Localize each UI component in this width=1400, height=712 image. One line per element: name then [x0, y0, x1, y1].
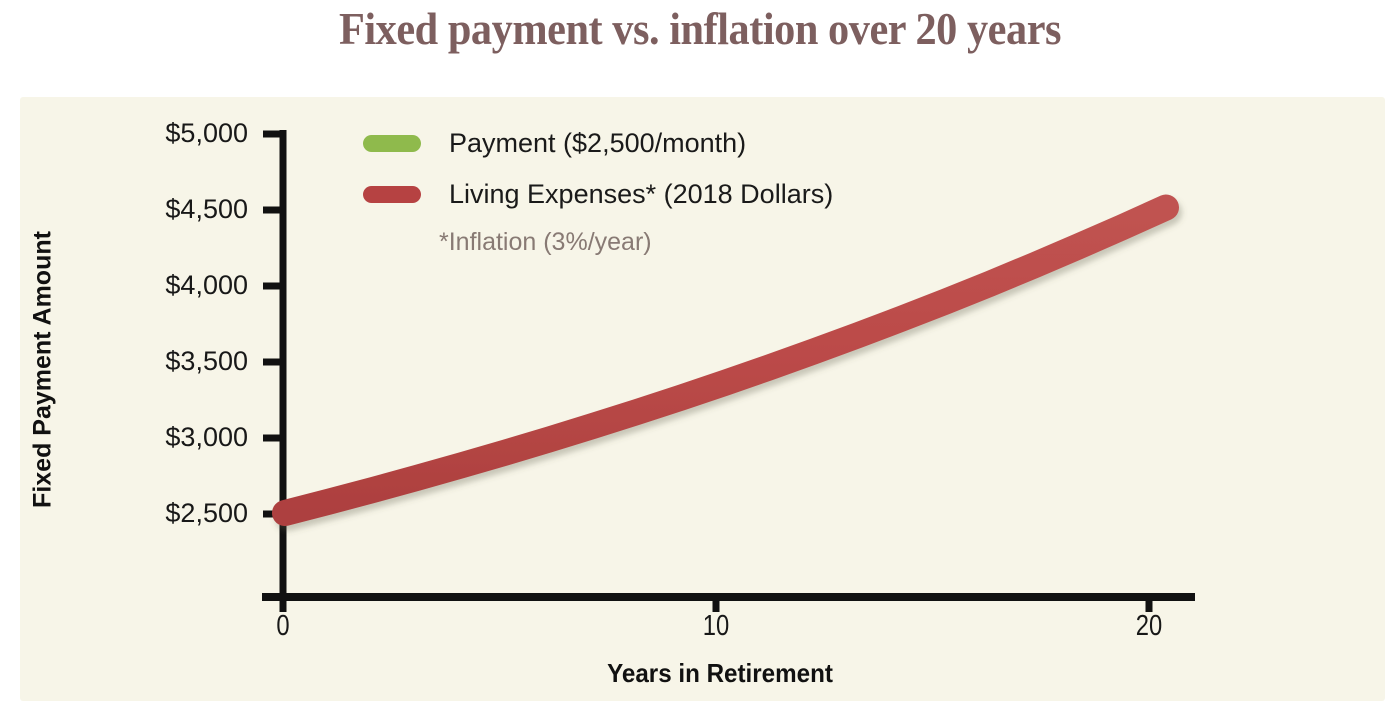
x-tick-20: 20 — [1100, 610, 1198, 643]
x-axis-tick-labels: 0 10 20 — [0, 0, 1400, 712]
legend-item-expenses[interactable]: Living Expenses* (2018 Dollars) — [363, 169, 983, 220]
chart-legend: Payment ($2,500/month) Living Expenses* … — [363, 118, 983, 257]
expenses-swatch-icon — [363, 186, 421, 203]
x-tick-10: 10 — [667, 610, 765, 643]
legend-footnote: *Inflation (3%/year) — [439, 228, 983, 257]
legend-label-payment: Payment ($2,500/month) — [449, 128, 746, 159]
payment-swatch-icon — [363, 135, 421, 152]
legend-label-expenses: Living Expenses* (2018 Dollars) — [449, 179, 833, 210]
legend-item-payment[interactable]: Payment ($2,500/month) — [363, 118, 983, 169]
y-axis-title: Fixed Payment Amount — [29, 205, 58, 535]
x-tick-0: 0 — [234, 610, 332, 643]
x-axis-title: Years in Retirement — [315, 658, 1124, 689]
